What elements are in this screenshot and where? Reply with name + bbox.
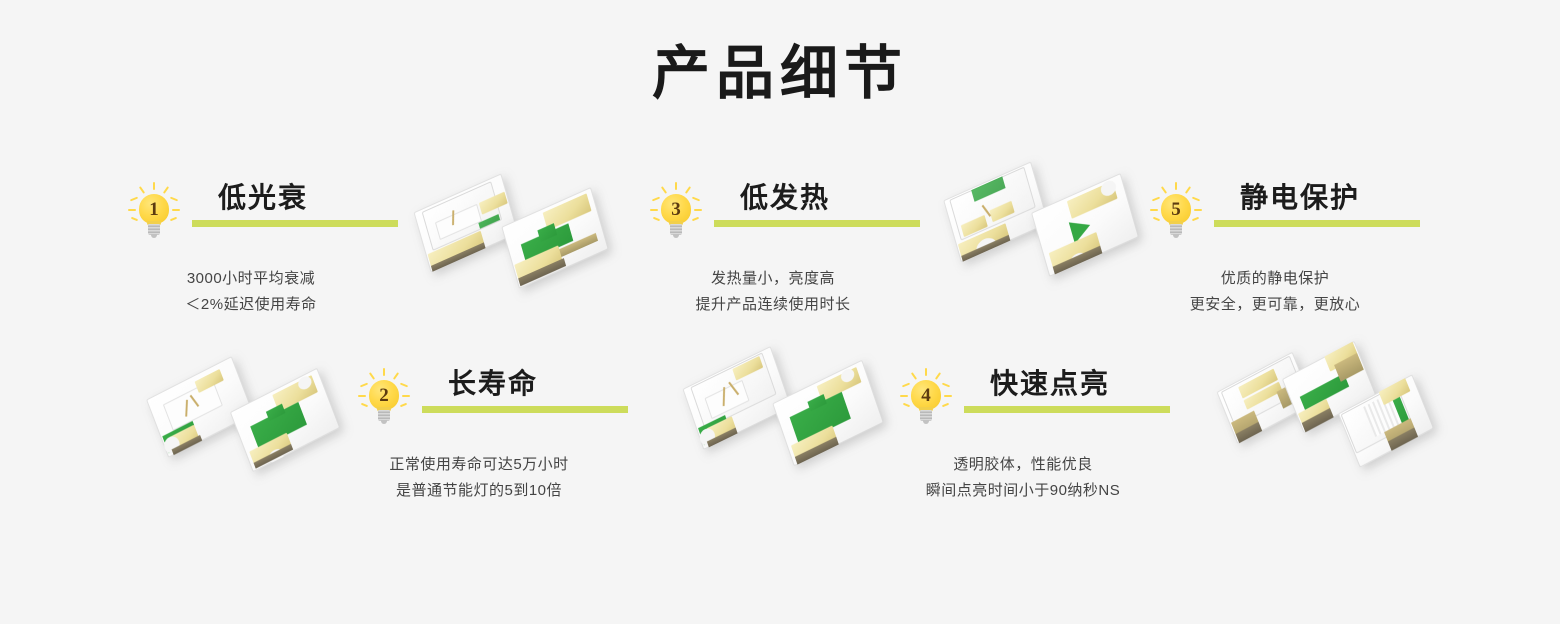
led-chip	[414, 173, 519, 272]
feature-description-line-1: 3000小时平均衰减	[130, 266, 372, 292]
lightbulb-icon: 5	[1148, 182, 1204, 244]
feature-underline	[964, 406, 1170, 413]
led-chip	[501, 187, 608, 289]
product-image-smd-led-pair-green-emitter	[688, 348, 888, 478]
feature-title: 长寿命	[422, 368, 628, 400]
feature-description-line-2: 瞬间点亮时间小于90纳秒NS	[888, 478, 1158, 504]
feature-description: 正常使用寿命可达5万小时 是普通节能灯的5到10倍	[348, 452, 610, 505]
feature-title: 快速点亮	[964, 368, 1170, 400]
led-chip	[682, 346, 791, 450]
feature-underline	[192, 220, 398, 227]
feature-title: 低光衰	[192, 182, 398, 214]
feature-description-line-2: 提升产品连续使用时长	[652, 292, 894, 318]
feature-description-line-2: ＜2%延迟使用寿命	[130, 292, 372, 318]
lightbulb-icon: 3	[648, 182, 704, 244]
product-image-smd-led-pair-triangle-mark	[948, 166, 1148, 296]
feature-header: 1 低光衰	[126, 182, 398, 244]
feature-block-3: 3 低发热 发热量小，亮度高 提升产品连续使用时长	[648, 182, 920, 319]
feature-header: 3 低发热	[648, 182, 920, 244]
feature-description: 发热量小，亮度高 提升产品连续使用时长	[652, 266, 894, 319]
feature-block-5: 5 静电保护 优质的静电保护 更安全，更可靠，更放心	[1148, 182, 1420, 319]
product-image-smd-led-pair-topview	[152, 362, 342, 482]
feature-number: 1	[139, 194, 169, 224]
feature-block-4: 4 快速点亮 透明胶体，性能优良 瞬间点亮时间小于90纳秒NS	[898, 368, 1170, 505]
feature-underline	[714, 220, 920, 227]
feature-number: 4	[911, 380, 941, 410]
feature-number: 2	[369, 380, 399, 410]
feature-description-line-2: 是普通节能灯的5到10倍	[348, 478, 610, 504]
feature-header: 2 长寿命	[356, 368, 628, 430]
feature-block-2: 2 长寿命 正常使用寿命可达5万小时 是普通节能灯的5到10倍	[356, 368, 628, 505]
feature-description-line-1: 优质的静电保护	[1150, 266, 1400, 292]
led-chip	[772, 360, 884, 467]
feature-description: 3000小时平均衰减 ＜2%延迟使用寿命	[130, 266, 372, 319]
feature-description-line-1: 发热量小，亮度高	[652, 266, 894, 292]
led-chip	[230, 368, 340, 473]
product-image-smd-led-trio-sideview	[1222, 348, 1422, 488]
product-image-smd-led-pair-clear-top	[418, 178, 618, 298]
feature-number: 3	[661, 194, 691, 224]
feature-title: 静电保护	[1214, 182, 1420, 214]
page-title: 产品细节	[0, 42, 1560, 106]
feature-underline	[1214, 220, 1420, 227]
feature-description-line-2: 更安全，更可靠，更放心	[1150, 292, 1400, 318]
lightbulb-icon: 4	[898, 368, 954, 430]
lightbulb-icon: 1	[126, 182, 182, 244]
feature-header: 5 静电保护	[1148, 182, 1420, 244]
led-chip	[1031, 173, 1139, 277]
feature-number: 5	[1161, 194, 1191, 224]
product-detail-page: 产品细节	[0, 0, 1560, 624]
feature-description: 优质的静电保护 更安全，更可靠，更放心	[1150, 266, 1400, 319]
feature-description-line-1: 正常使用寿命可达5万小时	[348, 452, 610, 478]
lightbulb-icon: 2	[356, 368, 412, 430]
feature-description-line-1: 透明胶体，性能优良	[888, 452, 1158, 478]
feature-header: 4 快速点亮	[898, 368, 1170, 430]
feature-description: 透明胶体，性能优良 瞬间点亮时间小于90纳秒NS	[888, 452, 1158, 505]
feature-block-1: 1 低光衰 3000小时平均衰减 ＜2%延迟使用寿命	[126, 182, 398, 319]
feature-underline	[422, 406, 628, 413]
feature-title: 低发热	[714, 182, 920, 214]
